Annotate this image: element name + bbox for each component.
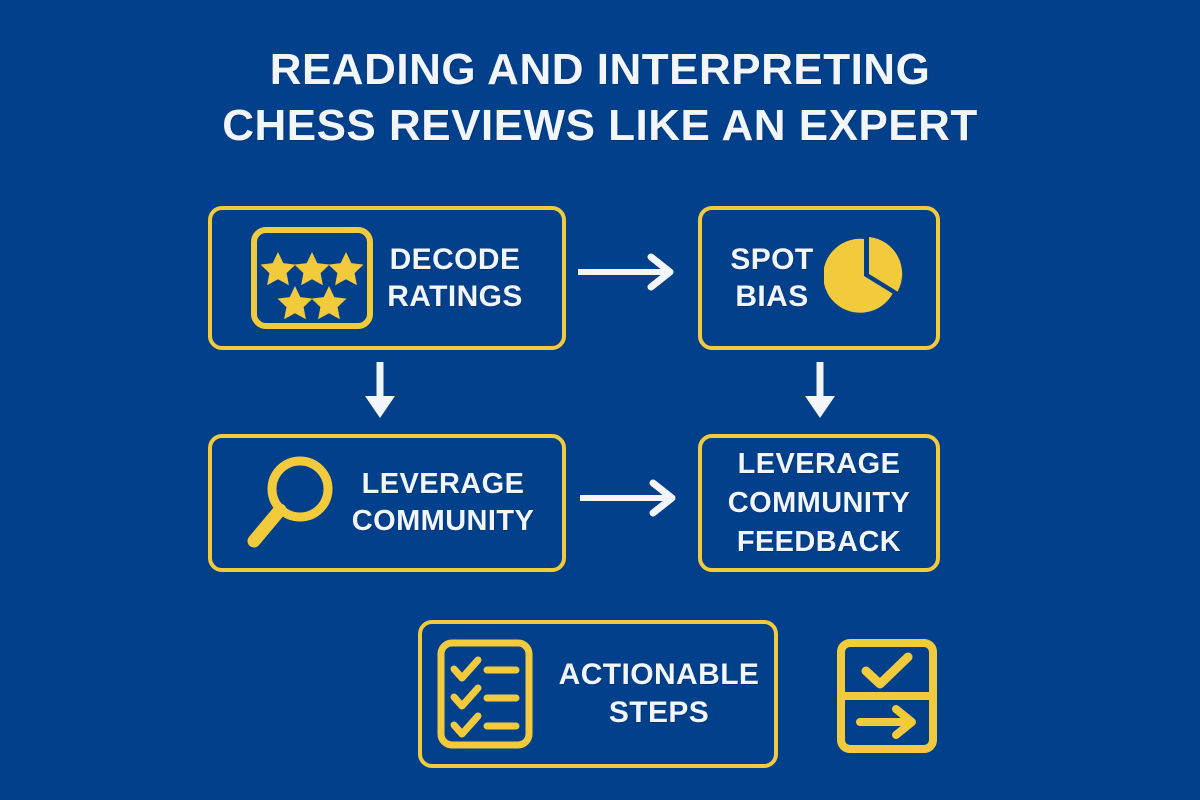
pie-chart-icon: [824, 236, 908, 320]
page-title-line-2: CHESS REVIEWS LIKE AN EXPERT: [0, 98, 1200, 154]
page-title-line-1: READING AND INTERPRETING: [0, 42, 1200, 98]
flow-box-spot-bias[interactable]: SPOT BIAS: [698, 206, 940, 350]
flow-box-leverage-community-feedback[interactable]: LEVERAGE COMMUNITY FEEDBACK: [698, 434, 940, 572]
arrow-right-decode-to-spot: [576, 252, 684, 292]
flow-box-label: DECODE RATINGS: [387, 241, 523, 315]
flow-box-label: ACTIONABLE STEPS: [559, 656, 760, 732]
check-and-arrow-icon: [836, 638, 938, 754]
arrow-down-decode-to-community: [358, 360, 402, 422]
arrow-down-spot-to-feedback: [798, 360, 842, 422]
flow-box-label: LEVERAGE COMMUNITY: [352, 466, 534, 540]
flow-box-label: LEVERAGE COMMUNITY FEEDBACK: [728, 445, 910, 562]
page-title: READING AND INTERPRETING CHESS REVIEWS L…: [0, 42, 1200, 154]
flow-box-label: SPOT BIAS: [730, 241, 813, 315]
infographic-canvas: READING AND INTERPRETING CHESS REVIEWS L…: [0, 0, 1200, 800]
five-stars-rating-icon: [251, 227, 373, 329]
flow-box-actionable-steps[interactable]: ACTIONABLE STEPS: [418, 620, 778, 768]
magnifier-icon: [240, 451, 346, 555]
flow-box-decode-ratings[interactable]: DECODE RATINGS: [208, 206, 566, 350]
checklist-icon: [437, 639, 541, 749]
arrow-right-community-to-feedback: [578, 478, 686, 518]
flow-box-leverage-community[interactable]: LEVERAGE COMMUNITY: [208, 434, 566, 572]
